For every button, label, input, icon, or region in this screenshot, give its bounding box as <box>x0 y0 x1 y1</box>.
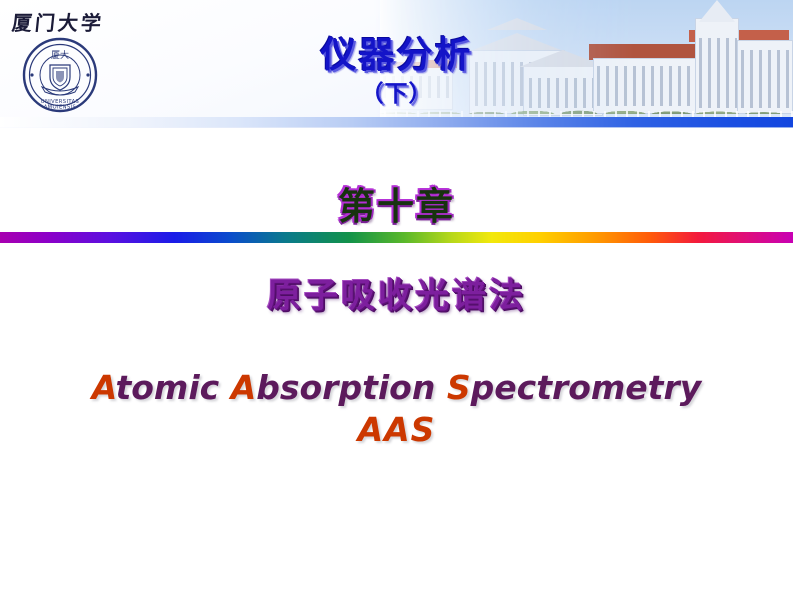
title-word-2-rest: bsorption <box>256 368 435 407</box>
title-word-3-rest: pectrometry <box>471 368 702 407</box>
campus-gable-right <box>699 0 735 22</box>
header-blue-stripe <box>0 117 793 127</box>
title-word-1: Atomic <box>92 368 219 407</box>
chapter-title-english: Atomic Absorption Spectrometry <box>0 368 793 407</box>
slide-header-banner: 厦门大学 厦大 UNIVERSITAS AMOIENSIS <box>0 0 793 128</box>
title-word-2-cap: A <box>231 368 257 407</box>
title-word-1-cap: A <box>92 368 116 407</box>
title-word-2: Absorption <box>231 368 436 407</box>
title-word-1-rest: tomic <box>115 368 219 407</box>
course-subtitle: （下） <box>0 74 793 108</box>
presentation-slide: 厦门大学 厦大 UNIVERSITAS AMOIENSIS <box>0 0 793 595</box>
chapter-title-abbreviation: AAS <box>0 410 793 449</box>
chapter-title-chinese: 原子吸收光谱法 <box>0 268 793 317</box>
chapter-number: 第十章 <box>0 176 793 230</box>
title-word-3: Spectrometry <box>447 368 701 407</box>
header-stripe-shadow <box>0 127 793 128</box>
rainbow-divider <box>0 232 793 243</box>
title-word-3-cap: S <box>447 368 471 407</box>
course-title: 仪器分析 <box>0 26 793 78</box>
